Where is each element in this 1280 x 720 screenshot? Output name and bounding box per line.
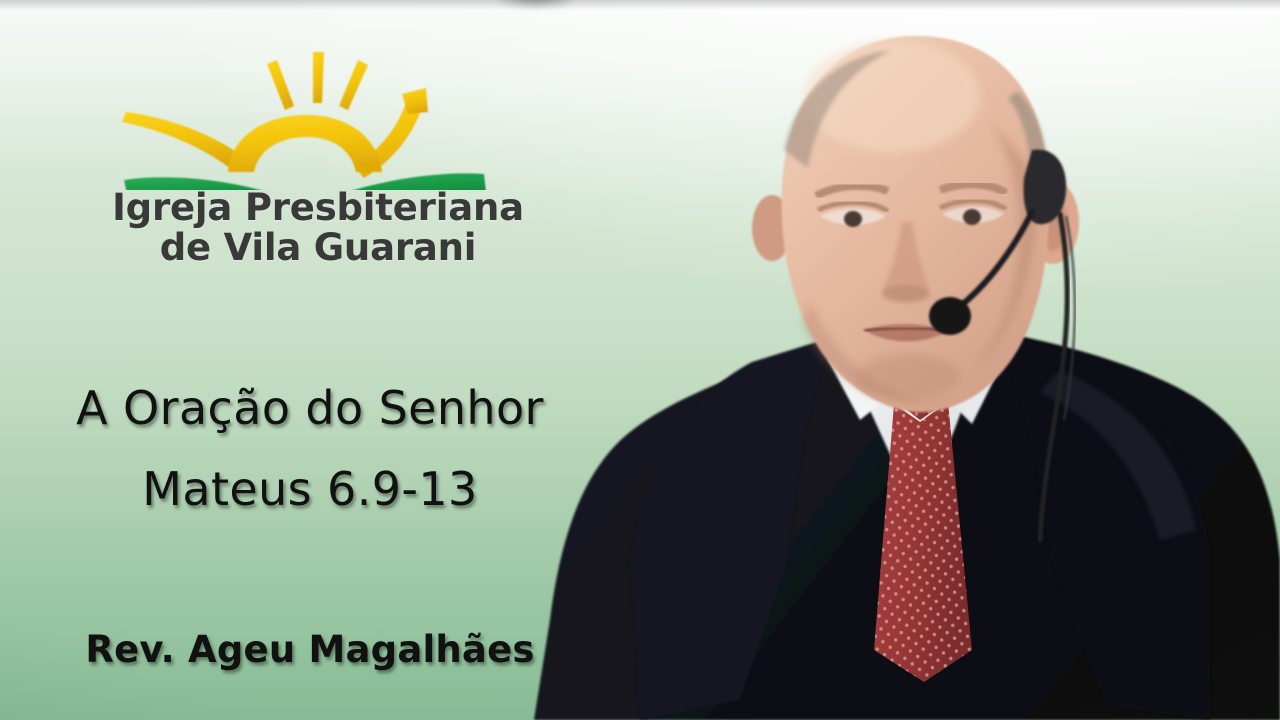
sunrise-over-open-book-icon [108,40,528,190]
logo-text-line-1: Igreja Presbiteriana [108,186,528,229]
logo-text-line-2: de Vila Guarani [108,226,528,269]
church-logo: Igreja Presbiteriana de Vila Guarani [108,40,528,280]
scripture-reference: Mateus 6.9-13 [0,462,620,516]
sermon-title: A Oração do Senhor [0,381,620,435]
speaker-name: Rev. Ageu Magalhães [0,628,620,671]
speaker-portrait [520,0,1280,720]
video-frame: Igreja Presbiteriana de Vila Guarani A O… [0,0,1280,720]
